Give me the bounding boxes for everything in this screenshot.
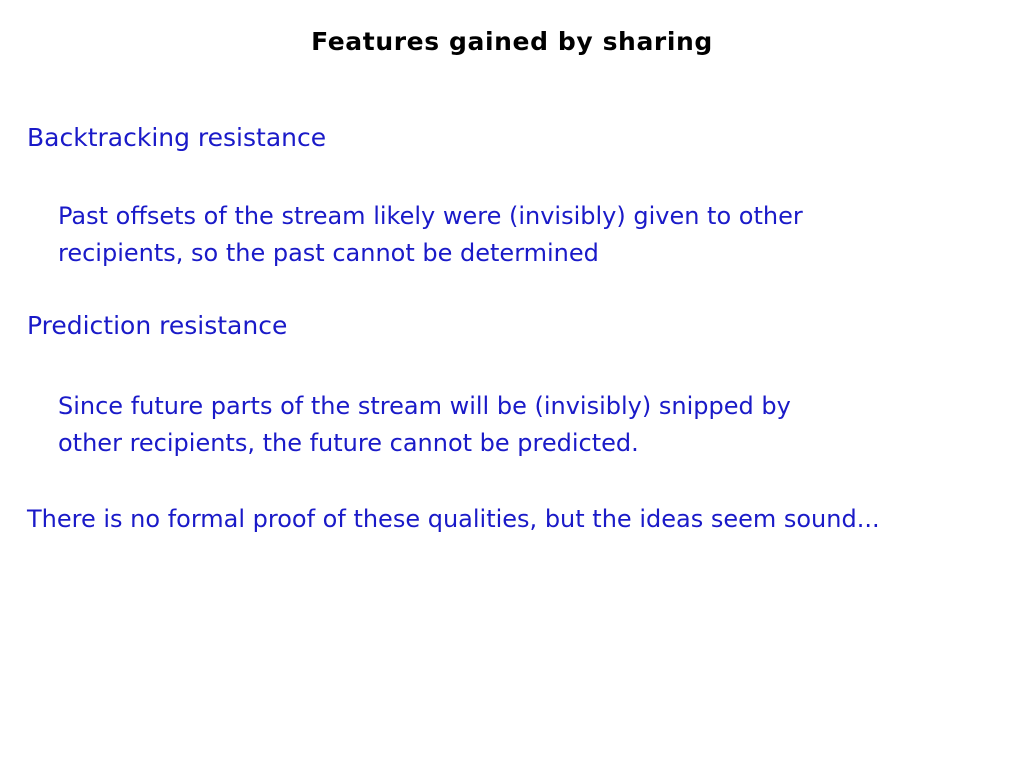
paragraph-line: other recipients, the future cannot be p…	[58, 425, 938, 462]
closing-note: There is no formal proof of these qualit…	[27, 503, 880, 535]
section-heading-backtracking-resistance: Backtracking resistance	[27, 123, 326, 153]
section-paragraph-prediction-resistance: Since future parts of the stream will be…	[58, 388, 938, 462]
presentation-slide: Features gained by sharing Backtracking …	[0, 0, 1024, 768]
paragraph-line: Past offsets of the stream likely were (…	[58, 198, 938, 235]
section-paragraph-backtracking-resistance: Past offsets of the stream likely were (…	[58, 198, 938, 272]
slide-body: Backtracking resistance Past offsets of …	[0, 0, 1024, 768]
paragraph-line: recipients, so the past cannot be determ…	[58, 235, 938, 272]
paragraph-line: Since future parts of the stream will be…	[58, 388, 938, 425]
section-heading-prediction-resistance: Prediction resistance	[27, 311, 287, 341]
